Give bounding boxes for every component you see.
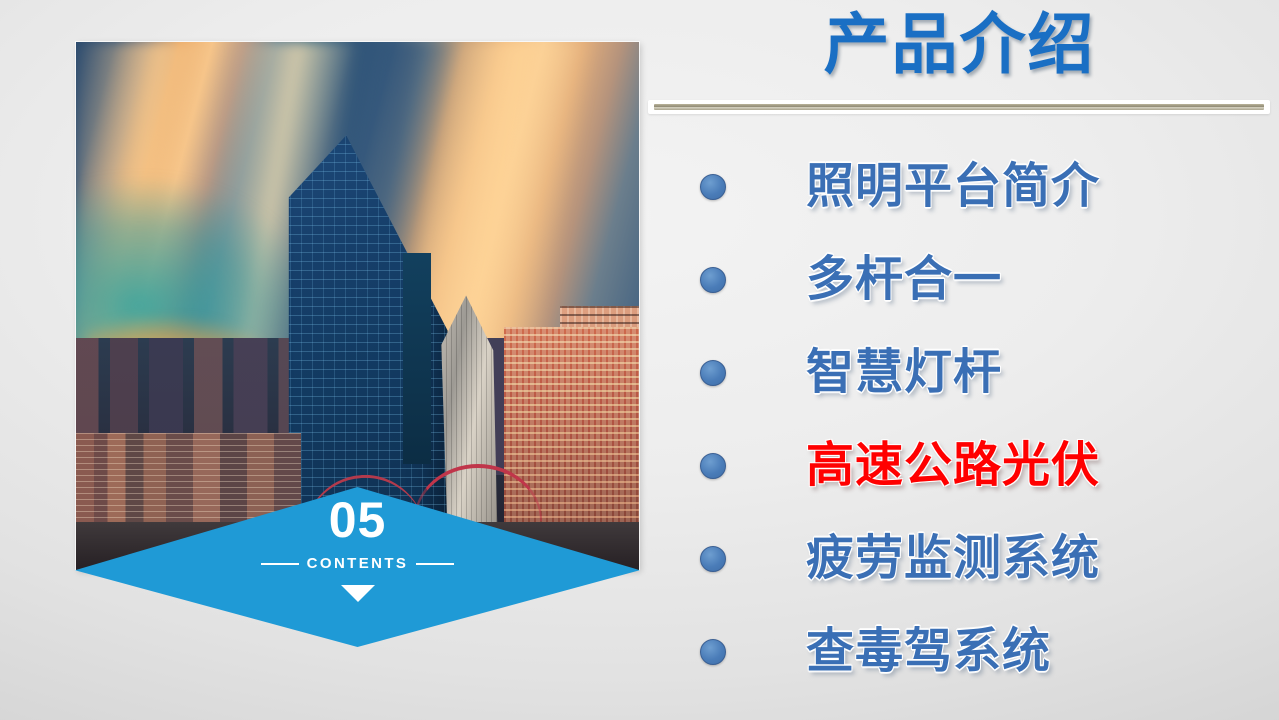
slide-canvas: 05 CONTENTS 产品介绍 照明平台简介 多杆合一 智慧灯杆 高速公路光伏: [0, 0, 1279, 720]
agenda-item-4-active[interactable]: 高速公路光伏: [700, 419, 1260, 512]
left-rule-line: [261, 563, 299, 565]
agenda-item-label: 多杆合一: [806, 256, 1002, 304]
title-divider: [648, 100, 1270, 114]
agenda-item-6[interactable]: 查毒驾系统: [700, 605, 1260, 698]
agenda-item-label: 智慧灯杆: [806, 349, 1002, 397]
contents-label-row: CONTENTS: [75, 555, 640, 572]
agenda-list: 照明平台简介 多杆合一 智慧灯杆 高速公路光伏 疲劳监测系统 查毒驾系统: [700, 140, 1260, 698]
page-title: 产品介绍: [640, 8, 1279, 81]
contents-label: CONTENTS: [307, 555, 409, 572]
agenda-item-2[interactable]: 多杆合一: [700, 233, 1260, 326]
bullet-icon: [700, 453, 726, 479]
bullet-icon: [700, 267, 726, 293]
dark-tower: [403, 253, 431, 464]
agenda-item-label: 照明平台简介: [806, 163, 1100, 211]
down-triangle-icon: [341, 585, 375, 602]
agenda-item-5[interactable]: 疲劳监测系统: [700, 512, 1260, 605]
right-rule-line: [416, 563, 454, 565]
agenda-item-3[interactable]: 智慧灯杆: [700, 326, 1260, 419]
agenda-item-label: 疲劳监测系统: [806, 535, 1100, 583]
bullet-icon: [700, 546, 726, 572]
agenda-item-label: 查毒驾系统: [806, 628, 1051, 676]
bullet-icon: [700, 639, 726, 665]
bullet-icon: [700, 360, 726, 386]
bullet-icon: [700, 174, 726, 200]
agenda-item-label: 高速公路光伏: [806, 442, 1100, 490]
agenda-item-1[interactable]: 照明平台简介: [700, 140, 1260, 233]
